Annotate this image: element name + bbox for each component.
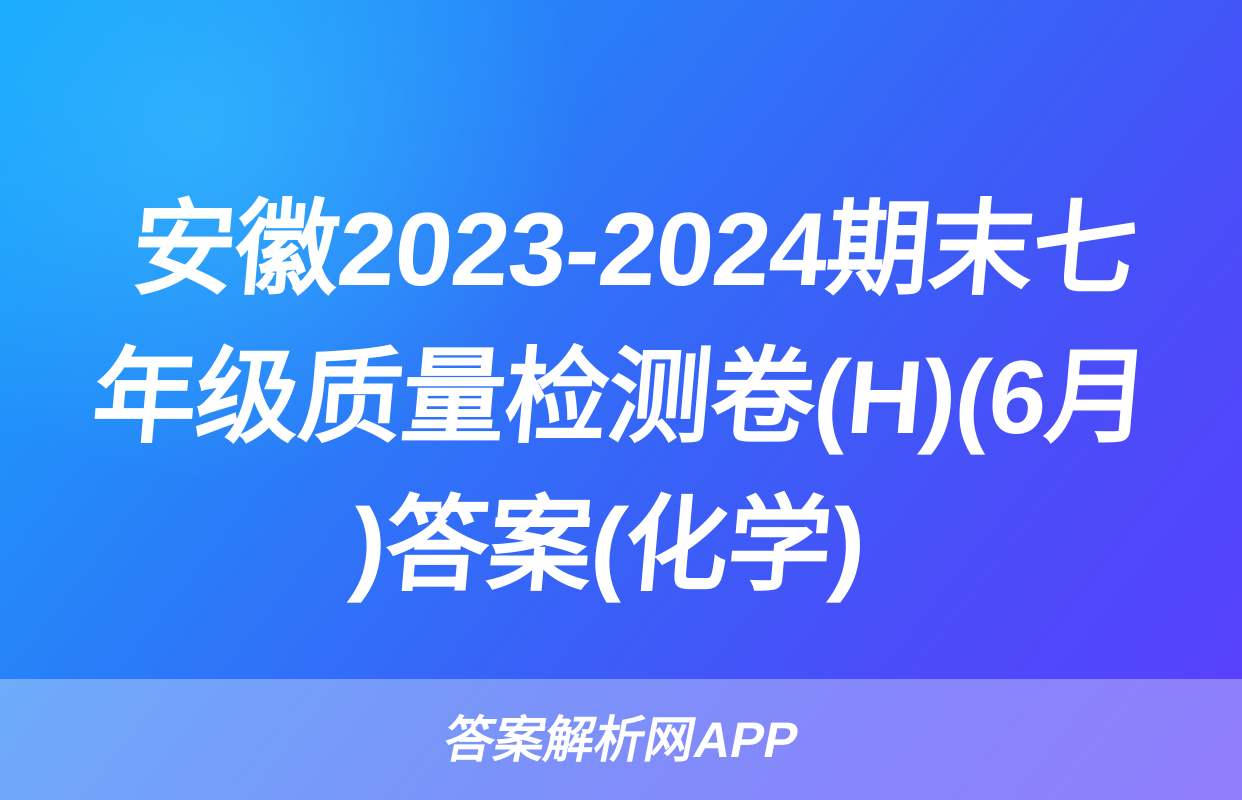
title-line-3: )答案(化学) — [0, 472, 1236, 620]
title-line-2: 年级质量检测卷(H)(6月 — [0, 324, 1242, 472]
footer-band-content: 答案解析网APP — [0, 679, 1242, 800]
page-title: 安徽2023-2024期末七 年级质量检测卷(H)(6月 )答案(化学) — [0, 176, 1242, 620]
app-watermark-label: 答案解析网APP — [440, 715, 803, 765]
title-line-1: 安徽2023-2024期末七 — [6, 176, 1242, 324]
poster-canvas: 安徽2023-2024期末七 年级质量检测卷(H)(6月 )答案(化学) 答案解… — [0, 0, 1242, 800]
footer-band: 答案解析网APP — [0, 679, 1242, 800]
